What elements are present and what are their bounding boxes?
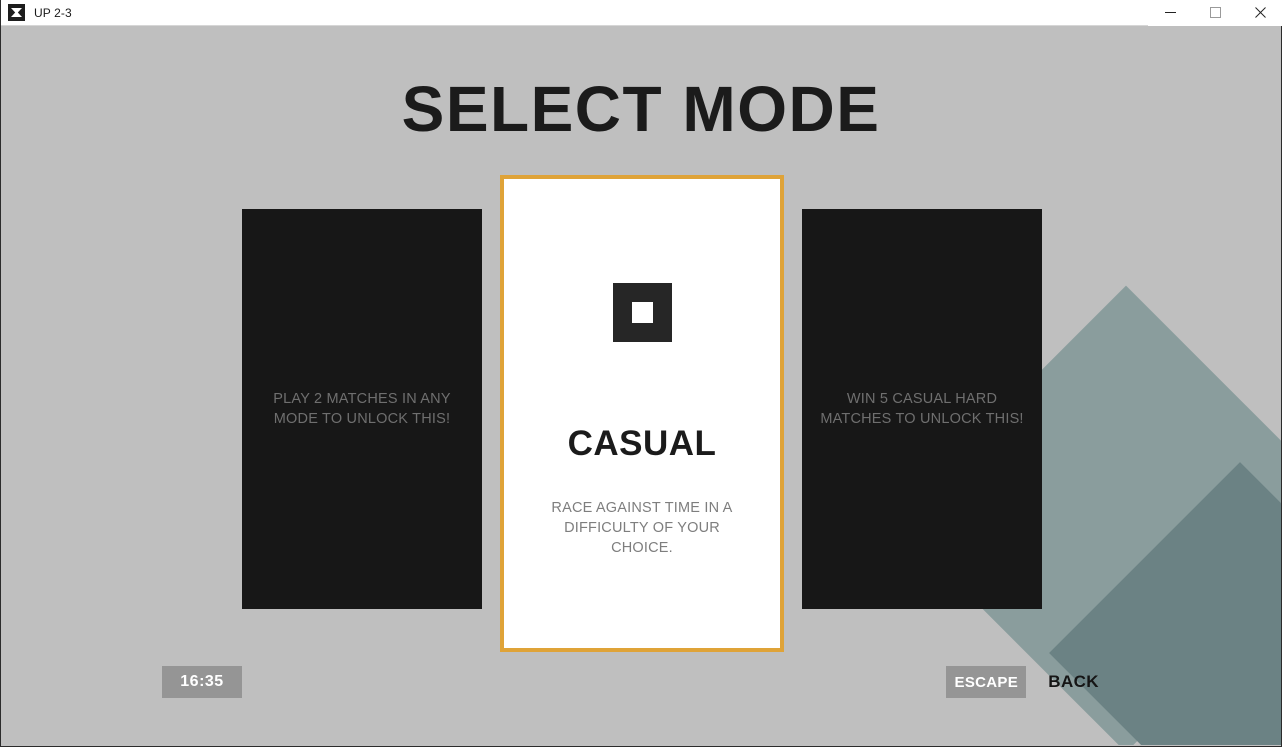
mode-card-right-locked[interactable]: WIN 5 CASUAL HARD MATCHES TO UNLOCK THIS…	[802, 209, 1042, 609]
mode-name: CASUAL	[568, 424, 717, 464]
app-logo-icon	[8, 4, 25, 21]
locked-requirement-text: WIN 5 CASUAL HARD MATCHES TO UNLOCK THIS…	[816, 389, 1028, 429]
window-titlebar[interactable]: UP 2-3	[1, 0, 1282, 26]
locked-requirement-text: PLAY 2 MATCHES IN ANY MODE TO UNLOCK THI…	[256, 389, 468, 429]
mode-card-left-locked[interactable]: PLAY 2 MATCHES IN ANY MODE TO UNLOCK THI…	[242, 209, 482, 609]
timer-badge: 16:35	[162, 666, 242, 698]
application-window: UP 2-3 SELECT MODE PLAY 2 MATCHES IN ANY…	[0, 0, 1282, 747]
escape-key-badge[interactable]: ESCAPE	[946, 666, 1026, 698]
back-control[interactable]: ESCAPE BACK	[946, 666, 1099, 698]
page-title: SELECT MODE	[1, 72, 1281, 146]
close-icon[interactable]	[1238, 0, 1282, 26]
stop-square-icon	[613, 283, 672, 342]
minimize-icon[interactable]	[1148, 0, 1193, 26]
game-screen: SELECT MODE PLAY 2 MATCHES IN ANY MODE T…	[1, 26, 1281, 745]
window-controls	[1148, 0, 1282, 26]
window-title: UP 2-3	[34, 6, 72, 20]
mode-description: RACE AGAINST TIME IN A DIFFICULTY OF YOU…	[537, 498, 747, 558]
mode-carousel: PLAY 2 MATCHES IN ANY MODE TO UNLOCK THI…	[1, 149, 1281, 659]
back-button-label[interactable]: BACK	[1048, 672, 1099, 692]
mode-card-casual[interactable]: CASUAL RACE AGAINST TIME IN A DIFFICULTY…	[500, 175, 784, 652]
maximize-icon[interactable]	[1193, 0, 1238, 26]
